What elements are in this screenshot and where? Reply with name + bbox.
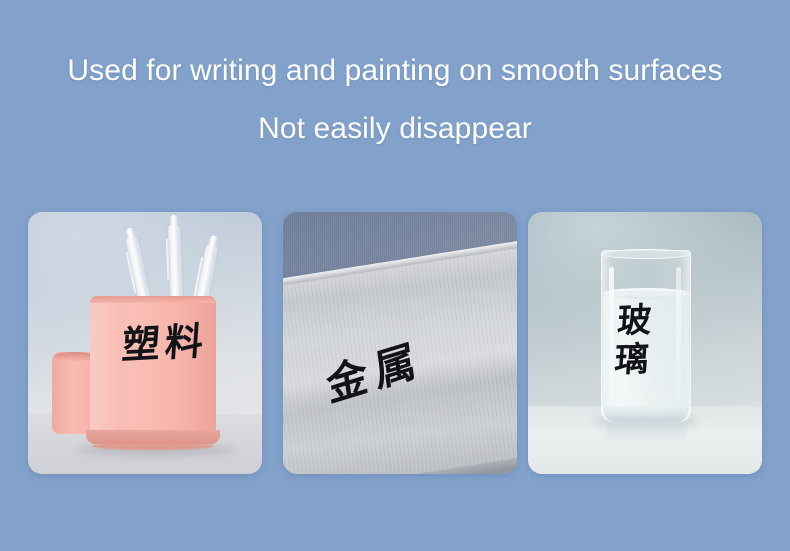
glass-highlight-icon (676, 267, 681, 399)
pen-clip-icon (193, 257, 204, 299)
headline-line-2: Not easily disappear (0, 112, 790, 146)
pen-cap-icon (170, 215, 177, 226)
plastic-scene-photo: 塑料 (28, 212, 262, 474)
holder-rim (90, 296, 216, 303)
pen-group (124, 220, 234, 306)
feature-panel-plastic[interactable]: 塑料 plastic (28, 212, 262, 474)
handwriting-glass: 玻 璃 (613, 301, 652, 380)
pen-clip-icon (166, 238, 170, 280)
metal-scene-photo: 金属 (283, 212, 517, 474)
glass-reflection (606, 420, 686, 446)
product-feature-banner: Used for writing and painting on smooth … (0, 0, 790, 551)
glass-bottom (604, 406, 688, 422)
pen-holder-body (90, 296, 216, 436)
pen-cap-icon (126, 227, 135, 239)
pen-icon (168, 224, 184, 306)
headline-line-1: Used for writing and painting on smooth … (0, 54, 790, 88)
feature-panel-metal[interactable]: 金属 metal (283, 212, 517, 474)
pen-cap-icon (209, 235, 218, 247)
holder-foot (92, 442, 214, 450)
feature-panel-glass[interactable]: 玻 璃 glass (528, 212, 762, 474)
glass-scene-photo: 玻 璃 (528, 212, 762, 474)
handwriting-plastic: 塑料 (121, 322, 210, 365)
glass-rim (601, 249, 691, 259)
pen-clip-icon (126, 252, 138, 294)
